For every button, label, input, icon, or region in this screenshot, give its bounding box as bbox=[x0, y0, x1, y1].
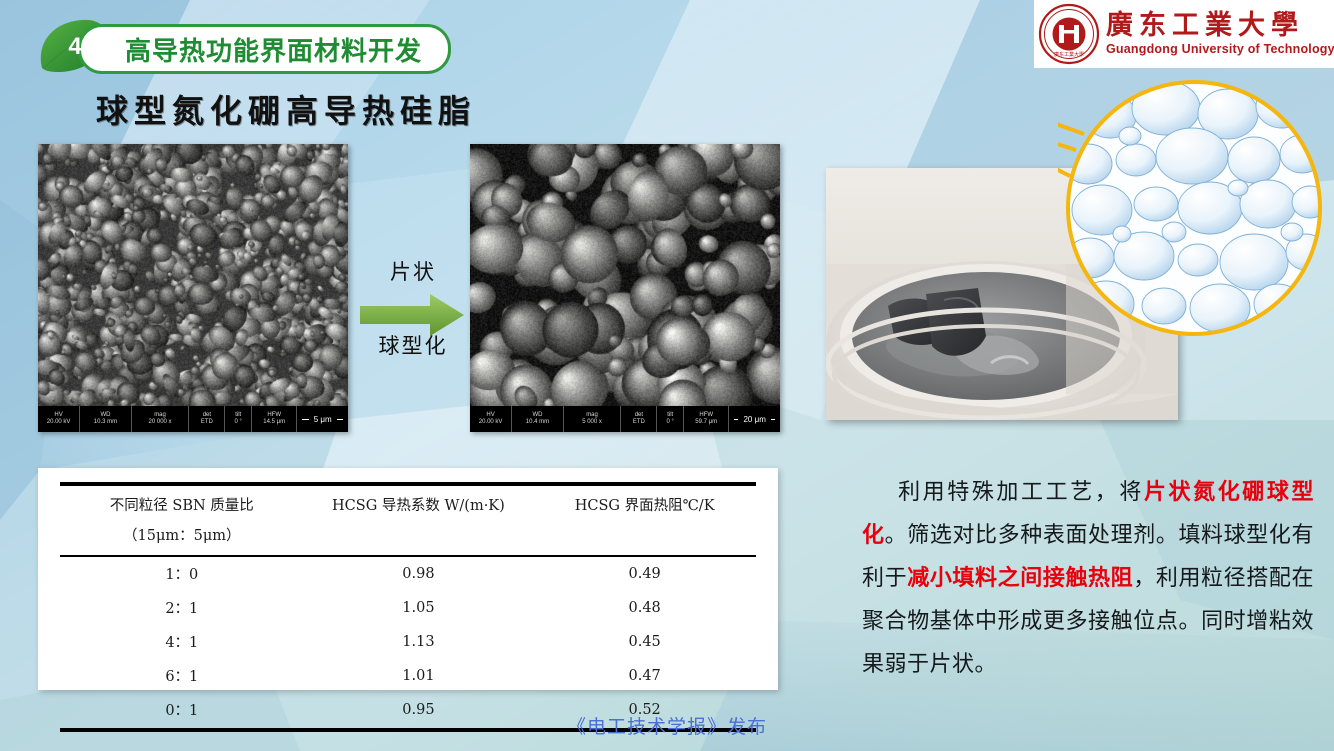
cell-resistance: 0.48 bbox=[533, 591, 756, 625]
section-badge-number: 4 bbox=[58, 30, 92, 64]
sem-right-scalebar: 20 μm bbox=[729, 406, 780, 432]
university-name-en: Guangdong University of Technology bbox=[1106, 42, 1334, 56]
sem-right-databar: HV20.00 kV WD10.4 mm mag5 000 x detETD t… bbox=[470, 406, 780, 432]
slide-root: 4 高导热功能界面材料开发 球型氮化硼高导热硅脂 廣东工業大學 廣东工業大學 G… bbox=[0, 0, 1334, 751]
table-subheader-blank-2 bbox=[533, 520, 756, 555]
table-row: 4：11.130.45 bbox=[60, 625, 756, 659]
cell-resistance: 0.45 bbox=[533, 625, 756, 659]
arrow-label-top: 片状 bbox=[358, 256, 468, 286]
journal-watermark: 《电工技术学报》发布 bbox=[0, 712, 1334, 739]
cell-ratio: 1：0 bbox=[60, 556, 304, 591]
section-title-text: 高导热功能界面材料开发 bbox=[125, 31, 422, 68]
table-subheader: （15μm：5μm） bbox=[60, 520, 304, 555]
results-table-panel: 不同粒径 SBN 质量比 HCSG 导热系数 W/(m·K) HCSG 界面热阻… bbox=[38, 468, 778, 690]
sem-left-databar: HV20.00 kV WD10.3 mm mag20 000 x detETD … bbox=[38, 406, 348, 432]
description-paragraph: 利用特殊加工工艺，将片状氮化硼球型化。筛选对比多种表面处理剂。填料球型化有利于减… bbox=[862, 470, 1314, 685]
table-row: 1：00.980.49 bbox=[60, 556, 756, 591]
arrow-label-bottom: 球型化 bbox=[358, 330, 468, 360]
cell-conductivity: 1.13 bbox=[304, 625, 534, 659]
cell-conductivity: 1.05 bbox=[304, 591, 534, 625]
table-subheader-blank-1 bbox=[304, 520, 534, 555]
svg-text:廣东工業大學: 廣东工業大學 bbox=[1054, 51, 1084, 58]
slide-subtitle: 球型氮化硼高导热硅脂 bbox=[96, 86, 476, 132]
sem-image-flake: HV20.00 kV WD10.3 mm mag20 000 x detETD … bbox=[38, 144, 348, 432]
table-body: 1：00.980.49 2：11.050.48 4：11.130.45 6：11… bbox=[60, 556, 756, 731]
cell-ratio: 4：1 bbox=[60, 625, 304, 659]
section-title-pill: 高导热功能界面材料开发 bbox=[78, 24, 451, 74]
results-table: 不同粒径 SBN 质量比 HCSG 导热系数 W/(m·K) HCSG 界面热阻… bbox=[60, 482, 756, 732]
paragraph-part-1: 利用特殊加工工艺，将 bbox=[896, 479, 1144, 504]
cell-ratio: 2：1 bbox=[60, 591, 304, 625]
table-row: 6：11.010.47 bbox=[60, 659, 756, 693]
cell-resistance: 0.47 bbox=[533, 659, 756, 693]
magnifier-callout bbox=[1058, 80, 1328, 350]
paragraph-emphasis-2: 减小填料之间接触热阻 bbox=[907, 565, 1133, 590]
cell-conductivity: 0.98 bbox=[304, 556, 534, 591]
table-header-0: 不同粒径 SBN 质量比 bbox=[60, 484, 304, 520]
table-header-2: HCSG 界面热阻℃/K bbox=[533, 484, 756, 520]
cell-resistance: 0.49 bbox=[533, 556, 756, 591]
university-name-cn: 廣东工業大學 bbox=[1106, 12, 1334, 39]
sem-image-spherical: HV20.00 kV WD10.4 mm mag5 000 x detETD t… bbox=[470, 144, 780, 432]
table-row: 2：11.050.48 bbox=[60, 591, 756, 625]
transform-arrow-group: 片状 球型化 bbox=[358, 258, 468, 368]
table-header-1: HCSG 导热系数 W/(m·K) bbox=[304, 484, 534, 520]
cell-conductivity: 1.01 bbox=[304, 659, 534, 693]
university-seal-icon: 廣东工業大學 bbox=[1038, 3, 1100, 65]
cell-ratio: 6：1 bbox=[60, 659, 304, 693]
sem-left-scalebar: 5 μm bbox=[297, 406, 348, 432]
university-logo: 廣东工業大學 廣东工業大學 Guangdong University of Te… bbox=[1034, 0, 1334, 68]
